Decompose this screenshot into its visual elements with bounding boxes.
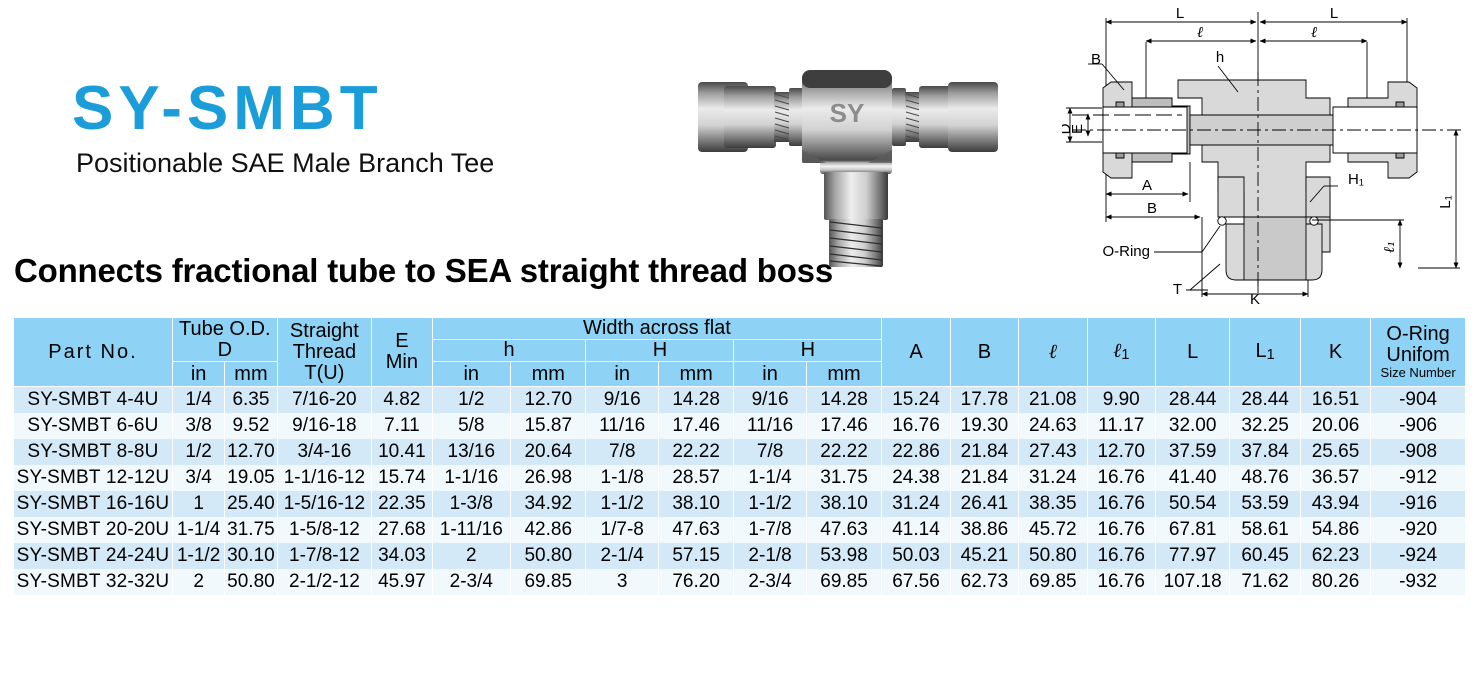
- cell-B: 62.73: [950, 569, 1018, 595]
- cell-L1: 60.45: [1230, 543, 1300, 569]
- col-head-l1: ℓ1: [1087, 318, 1155, 387]
- cell-B: 26.41: [950, 491, 1018, 517]
- cell-e_min: 27.68: [372, 517, 432, 543]
- cell-d_mm: 12.70: [225, 439, 277, 465]
- cell-d_mm: 9.52: [225, 413, 277, 439]
- cell-h_mm: 26.98: [511, 465, 586, 491]
- cell-l: 45.72: [1019, 517, 1087, 543]
- cell-K: 20.06: [1300, 413, 1370, 439]
- cell-oring: -924: [1371, 543, 1466, 569]
- col-head-A: A: [882, 318, 950, 387]
- cell-A: 67.56: [882, 569, 950, 595]
- cell-K: 62.23: [1300, 543, 1370, 569]
- col-head-d-mm: mm: [225, 362, 277, 387]
- cell-oring: -932: [1371, 569, 1466, 595]
- col-head-B: B: [950, 318, 1018, 387]
- cell-h_in: 5/8: [432, 413, 510, 439]
- table-row: SY-SMBT 20-20U1-1/431.751-5/8-1227.681-1…: [14, 517, 1466, 543]
- cell-d_mm: 50.80: [225, 569, 277, 595]
- table-row: SY-SMBT 16-16U125.401-5/16-1222.351-3/83…: [14, 491, 1466, 517]
- cell-d_in: 2: [172, 569, 224, 595]
- cell-H2_mm: 31.75: [806, 465, 882, 491]
- cell-H1_mm: 28.57: [658, 465, 733, 491]
- cell-e_min: 4.82: [372, 387, 432, 414]
- cell-thread: 1-7/8-12: [277, 543, 372, 569]
- cell-d_in: 1-1/2: [172, 543, 224, 569]
- cell-d_in: 1-1/4: [172, 517, 224, 543]
- col-head-L: L: [1155, 318, 1229, 387]
- cell-part-no: SY-SMBT 6-6U: [14, 413, 173, 439]
- col-head-e-min: E Min: [372, 318, 432, 387]
- cell-d_in: 1/2: [172, 439, 224, 465]
- cell-A: 22.86: [882, 439, 950, 465]
- cell-H2_mm: 38.10: [806, 491, 882, 517]
- cell-H2_in: 1-7/8: [734, 517, 806, 543]
- cell-h_in: 1-11/16: [432, 517, 510, 543]
- col-head-h: h: [432, 340, 586, 362]
- spec-table: Part No. Tube O.D. D Straight Thread T(U…: [13, 317, 1466, 595]
- col-head-o-ring: O-Ring Unifom Size Number: [1371, 318, 1466, 387]
- cell-l: 27.43: [1019, 439, 1087, 465]
- cell-part-no: SY-SMBT 4-4U: [14, 387, 173, 414]
- cell-L: 32.00: [1155, 413, 1229, 439]
- cell-part-no: SY-SMBT 16-16U: [14, 491, 173, 517]
- cell-L1: 53.59: [1230, 491, 1300, 517]
- e-line2: Min: [386, 351, 418, 373]
- cell-thread: 1-5/8-12: [277, 517, 372, 543]
- cell-d_in: 3/8: [172, 413, 224, 439]
- cell-thread: 3/4-16: [277, 439, 372, 465]
- cell-A: 31.24: [882, 491, 950, 517]
- cell-K: 80.26: [1300, 569, 1370, 595]
- cell-thread: 9/16-18: [277, 413, 372, 439]
- cell-A: 16.76: [882, 413, 950, 439]
- cell-H1_mm: 76.20: [658, 569, 733, 595]
- drawing-label-H1: H₁: [1348, 171, 1364, 188]
- cell-L1: 37.84: [1230, 439, 1300, 465]
- cell-B: 17.78: [950, 387, 1018, 414]
- drawing-label-L1: L₁: [1437, 195, 1454, 208]
- cell-h_in: 2: [432, 543, 510, 569]
- cell-L1: 58.61: [1230, 517, 1300, 543]
- cell-oring: -904: [1371, 387, 1466, 414]
- cell-h_mm: 12.70: [511, 387, 586, 414]
- cell-l1: 12.70: [1087, 439, 1155, 465]
- col-head-part-no: Part No.: [14, 318, 173, 387]
- table-row: SY-SMBT 12-12U3/419.051-1/16-1215.741-1/…: [14, 465, 1466, 491]
- cell-h_mm: 50.80: [511, 543, 586, 569]
- drawing-label-E: E: [1069, 124, 1086, 134]
- cell-H1_in: 1/7-8: [586, 517, 658, 543]
- cell-l1: 16.76: [1087, 543, 1155, 569]
- tube-od-line1: Tube O.D.: [179, 318, 271, 340]
- tube-od-line2: D: [218, 339, 232, 361]
- spec-table-header: Part No. Tube O.D. D Straight Thread T(U…: [14, 318, 1466, 387]
- product-subtitle: Positionable SAE Male Branch Tee: [76, 150, 692, 177]
- oring-line1: O-Ring: [1371, 324, 1465, 345]
- cell-H1_mm: 47.63: [658, 517, 733, 543]
- cell-l1: 16.76: [1087, 465, 1155, 491]
- cell-thread: 1-1/16-12: [277, 465, 372, 491]
- cell-e_min: 15.74: [372, 465, 432, 491]
- cell-h_mm: 69.85: [511, 569, 586, 595]
- drawing-label-l-right: ℓ: [1311, 23, 1317, 41]
- table-row: SY-SMBT 24-24U1-1/230.101-7/8-1234.03250…: [14, 543, 1466, 569]
- cell-H1_mm: 14.28: [658, 387, 733, 414]
- e-line1: E: [395, 330, 408, 352]
- cell-L: 28.44: [1155, 387, 1229, 414]
- cell-e_min: 10.41: [372, 439, 432, 465]
- cell-oring: -908: [1371, 439, 1466, 465]
- cell-d_mm: 25.40: [225, 491, 277, 517]
- cell-L1: 32.25: [1230, 413, 1300, 439]
- table-row: SY-SMBT 32-32U250.802-1/2-1245.972-3/469…: [14, 569, 1466, 595]
- cell-d_in: 1/4: [172, 387, 224, 414]
- cell-L1: 28.44: [1230, 387, 1300, 414]
- col-head-K: K: [1300, 318, 1370, 387]
- oring-line3: Size Number: [1371, 366, 1465, 380]
- col-head-H1-in: in: [586, 362, 658, 387]
- cell-L: 37.59: [1155, 439, 1229, 465]
- cell-H2_mm: 14.28: [806, 387, 882, 414]
- cell-K: 54.86: [1300, 517, 1370, 543]
- cell-l1: 16.76: [1087, 517, 1155, 543]
- cell-B: 38.86: [950, 517, 1018, 543]
- cell-A: 24.38: [882, 465, 950, 491]
- col-head-width-across-flat: Width across flat: [432, 318, 882, 340]
- cell-e_min: 45.97: [372, 569, 432, 595]
- cell-B: 45.21: [950, 543, 1018, 569]
- photo-body-mark: SY: [830, 98, 865, 128]
- cell-part-no: SY-SMBT 20-20U: [14, 517, 173, 543]
- cell-l1: 16.76: [1087, 569, 1155, 595]
- cell-H2_in: 1-1/4: [734, 465, 806, 491]
- cell-thread: 7/16-20: [277, 387, 372, 414]
- cell-A: 15.24: [882, 387, 950, 414]
- cell-L: 107.18: [1155, 569, 1229, 595]
- table-row: SY-SMBT 6-6U3/89.529/16-187.115/815.8711…: [14, 413, 1466, 439]
- cell-d_in: 1: [172, 491, 224, 517]
- cell-H2_in: 7/8: [734, 439, 806, 465]
- cell-H2_in: 2-1/8: [734, 543, 806, 569]
- thread-line3: T(U): [304, 362, 344, 384]
- cell-oring: -920: [1371, 517, 1466, 543]
- cell-L: 50.54: [1155, 491, 1229, 517]
- oring-line2: Unifom: [1371, 345, 1465, 366]
- cell-h_in: 1-1/16: [432, 465, 510, 491]
- cell-l: 38.35: [1019, 491, 1087, 517]
- drawing-label-L-left: L: [1176, 5, 1184, 22]
- cell-h_in: 13/16: [432, 439, 510, 465]
- drawing-label-o-ring: O-Ring: [1102, 243, 1150, 260]
- cell-h_mm: 15.87: [511, 413, 586, 439]
- col-head-H-b: H: [734, 340, 882, 362]
- spec-table-body: SY-SMBT 4-4U1/46.357/16-204.821/212.709/…: [14, 387, 1466, 596]
- cell-oring: -916: [1371, 491, 1466, 517]
- cell-h_in: 1-3/8: [432, 491, 510, 517]
- cell-L1: 48.76: [1230, 465, 1300, 491]
- cell-H1_mm: 38.10: [658, 491, 733, 517]
- cell-H2_in: 1-1/2: [734, 491, 806, 517]
- product-photo: SY: [690, 40, 1020, 290]
- cell-H2_in: 2-3/4: [734, 569, 806, 595]
- drawing-label-L-right: L: [1330, 5, 1338, 22]
- cell-H1_in: 11/16: [586, 413, 658, 439]
- thread-line2: Thread: [293, 341, 356, 363]
- cell-l: 69.85: [1019, 569, 1087, 595]
- cell-thread: 2-1/2-12: [277, 569, 372, 595]
- cell-H1_in: 1-1/2: [586, 491, 658, 517]
- cell-l: 24.63: [1019, 413, 1087, 439]
- drawing-label-l-left: ℓ: [1197, 23, 1203, 41]
- thread-line1: Straight: [290, 320, 359, 342]
- cell-H1_in: 7/8: [586, 439, 658, 465]
- title-block: SY-SMBT Positionable SAE Male Branch Tee: [72, 78, 692, 177]
- cell-B: 21.84: [950, 465, 1018, 491]
- spec-table-container: Part No. Tube O.D. D Straight Thread T(U…: [13, 317, 1466, 595]
- col-head-L1: L1: [1230, 318, 1300, 387]
- cell-d_in: 3/4: [172, 465, 224, 491]
- cell-B: 21.84: [950, 439, 1018, 465]
- cell-part-no: SY-SMBT 32-32U: [14, 569, 173, 595]
- cell-part-no: SY-SMBT 8-8U: [14, 439, 173, 465]
- cell-H2_in: 11/16: [734, 413, 806, 439]
- cell-H2_mm: 47.63: [806, 517, 882, 543]
- cell-L1: 71.62: [1230, 569, 1300, 595]
- cell-H2_mm: 69.85: [806, 569, 882, 595]
- drawing-label-l1: ℓ₁: [1380, 241, 1398, 253]
- cell-L: 77.97: [1155, 543, 1229, 569]
- cell-l: 50.80: [1019, 543, 1087, 569]
- cell-H1_in: 2-1/4: [586, 543, 658, 569]
- cell-K: 36.57: [1300, 465, 1370, 491]
- product-code: SY-SMBT: [72, 78, 692, 140]
- cell-H2_mm: 17.46: [806, 413, 882, 439]
- cell-e_min: 34.03: [372, 543, 432, 569]
- table-row: SY-SMBT 8-8U1/212.703/4-1610.4113/1620.6…: [14, 439, 1466, 465]
- drawing-label-B-leader: B: [1091, 51, 1101, 68]
- cell-B: 19.30: [950, 413, 1018, 439]
- drawing-label-K: K: [1250, 291, 1260, 308]
- cell-H1_in: 9/16: [586, 387, 658, 414]
- col-head-d-in: in: [172, 362, 224, 387]
- col-head-H1-mm: mm: [658, 362, 733, 387]
- cell-h_mm: 34.92: [511, 491, 586, 517]
- cell-oring: -912: [1371, 465, 1466, 491]
- cell-h_in: 2-3/4: [432, 569, 510, 595]
- cell-h_mm: 20.64: [511, 439, 586, 465]
- cell-K: 43.94: [1300, 491, 1370, 517]
- col-head-H-a: H: [586, 340, 734, 362]
- cell-H1_mm: 22.22: [658, 439, 733, 465]
- cell-l: 31.24: [1019, 465, 1087, 491]
- cell-l1: 9.90: [1087, 387, 1155, 414]
- cell-l1: 11.17: [1087, 413, 1155, 439]
- col-head-tube-od: Tube O.D. D: [172, 318, 277, 362]
- drawing-label-h: h: [1216, 49, 1224, 66]
- cell-l1: 16.76: [1087, 491, 1155, 517]
- cell-part-no: SY-SMBT 12-12U: [14, 465, 173, 491]
- cell-h_mm: 42.86: [511, 517, 586, 543]
- cell-d_mm: 6.35: [225, 387, 277, 414]
- cell-d_mm: 31.75: [225, 517, 277, 543]
- col-head-h-mm: mm: [511, 362, 586, 387]
- cell-K: 25.65: [1300, 439, 1370, 465]
- table-row: SY-SMBT 4-4U1/46.357/16-204.821/212.709/…: [14, 387, 1466, 414]
- cell-h_in: 1/2: [432, 387, 510, 414]
- cell-e_min: 22.35: [372, 491, 432, 517]
- cell-e_min: 7.11: [372, 413, 432, 439]
- cell-H2_in: 9/16: [734, 387, 806, 414]
- cell-oring: -906: [1371, 413, 1466, 439]
- col-head-h-in: in: [432, 362, 510, 387]
- drawing-label-B-dim: B: [1147, 200, 1157, 217]
- drawing-label-T: T: [1173, 281, 1182, 298]
- cell-L: 41.40: [1155, 465, 1229, 491]
- cell-H1_in: 1-1/8: [586, 465, 658, 491]
- col-head-H2-in: in: [734, 362, 806, 387]
- drawing-label-A: A: [1142, 177, 1152, 194]
- cell-H1_mm: 17.46: [658, 413, 733, 439]
- cell-A: 41.14: [882, 517, 950, 543]
- cell-d_mm: 30.10: [225, 543, 277, 569]
- technical-drawing: L L ℓ ℓ B h A B H₁ K O-Ring T D E L₁ ℓ₁: [1062, 2, 1479, 308]
- cell-H1_mm: 57.15: [658, 543, 733, 569]
- col-head-H2-mm: mm: [806, 362, 882, 387]
- cell-A: 50.03: [882, 543, 950, 569]
- cell-K: 16.51: [1300, 387, 1370, 414]
- cell-d_mm: 19.05: [225, 465, 277, 491]
- cell-H1_in: 3: [586, 569, 658, 595]
- cell-thread: 1-5/16-12: [277, 491, 372, 517]
- cell-part-no: SY-SMBT 24-24U: [14, 543, 173, 569]
- cell-H2_mm: 22.22: [806, 439, 882, 465]
- cell-H2_mm: 53.98: [806, 543, 882, 569]
- col-head-l: ℓ: [1019, 318, 1087, 387]
- cell-l: 21.08: [1019, 387, 1087, 414]
- col-head-straight-thread: Straight Thread T(U): [277, 318, 372, 387]
- cell-L: 67.81: [1155, 517, 1229, 543]
